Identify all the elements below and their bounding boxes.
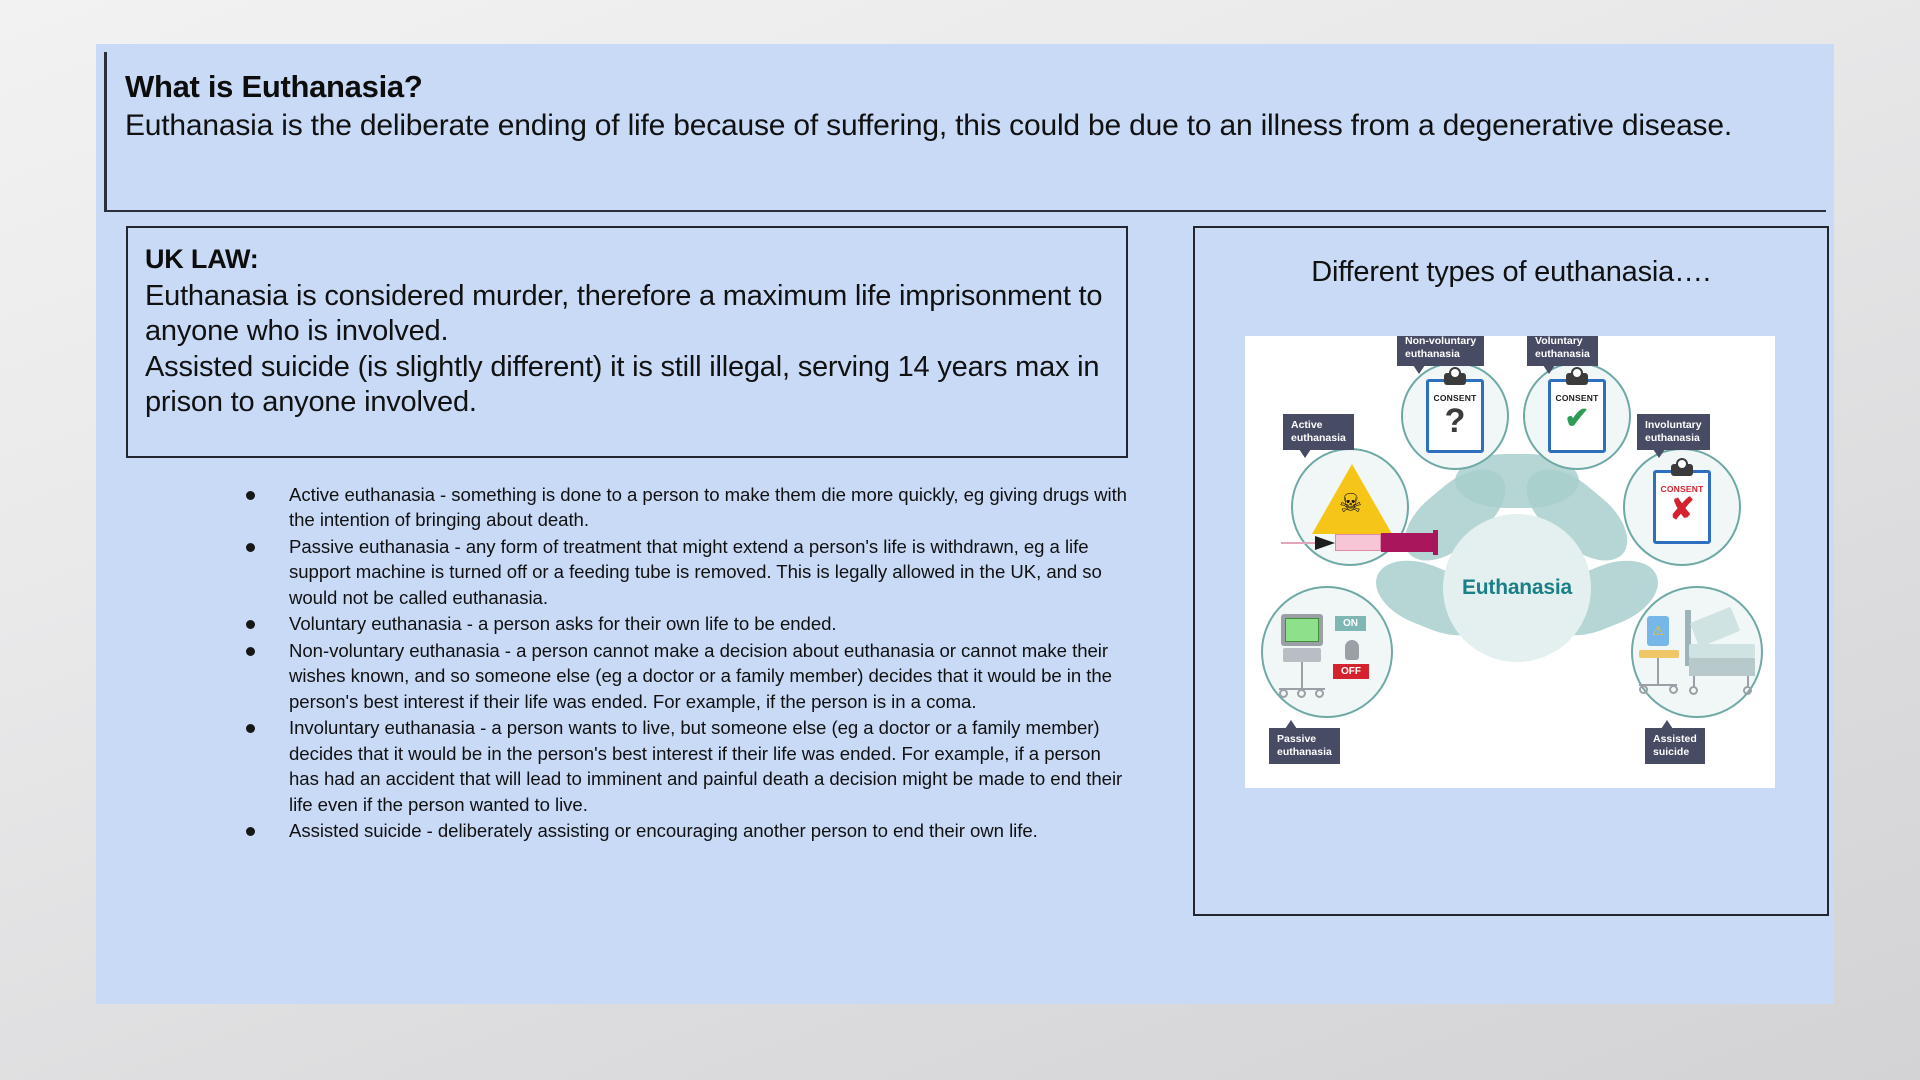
node-voluntary: CONSENT ✔ <box>1523 362 1631 470</box>
caster-wheel-icon <box>1279 689 1288 698</box>
caster-wheel-icon <box>1689 686 1698 695</box>
syringe-plunger <box>1433 530 1438 555</box>
list-item-text: Voluntary euthanasia - a person asks for… <box>289 611 1129 636</box>
list-item: Voluntary euthanasia - a person asks for… <box>156 611 1136 636</box>
tag-passive: Passive euthanasia <box>1269 728 1340 764</box>
list-item: Involuntary euthanasia - a person wants … <box>156 715 1136 817</box>
list-item-text: Passive euthanasia - any form of treatme… <box>289 534 1129 610</box>
iv-bag-icon: ⚠ <box>1647 616 1669 646</box>
node-involuntary: CONSENT ✘ <box>1623 448 1741 566</box>
bullet-dot-icon <box>246 491 255 500</box>
syringe-icon <box>1281 530 1438 555</box>
euthanasia-types-diagram: CONSENT ? Non-voluntary euthanasia CONSE… <box>1245 336 1775 788</box>
switch-off-badge: OFF <box>1333 664 1369 679</box>
caster-wheel-icon <box>1315 689 1324 698</box>
list-item: Non-voluntary euthanasia - a person cann… <box>156 638 1136 714</box>
switch-on-badge: ON <box>1335 616 1366 631</box>
check-mark-glyph: ✔ <box>1564 404 1589 434</box>
page-title: What is Euthanasia? <box>125 70 1806 105</box>
list-item-text: Active euthanasia - something is done to… <box>289 482 1129 533</box>
node-assisted-suicide: ⚠ <box>1631 586 1763 718</box>
switch-knob-icon <box>1345 640 1359 660</box>
list-item: Active euthanasia - something is done to… <box>156 482 1136 533</box>
clipboard-cross-icon: CONSENT ✘ <box>1653 470 1711 544</box>
clipboard-clip-icon <box>1444 373 1466 385</box>
clipboard-clip-icon <box>1671 464 1693 476</box>
bullet-dot-icon <box>246 827 255 836</box>
syringe-needle <box>1281 542 1315 544</box>
question-mark-glyph: ? <box>1445 404 1466 438</box>
skull-crossbones-glyph: ☠ <box>1339 490 1362 516</box>
heading-description: Euthanasia is the deliberate ending of l… <box>125 108 1806 143</box>
hazard-skull-icon: ☠ <box>1312 464 1392 534</box>
list-item-text: Involuntary euthanasia - a person wants … <box>289 715 1129 817</box>
bullet-dot-icon <box>246 543 255 552</box>
bed-frame <box>1689 658 1755 676</box>
list-item: Assisted suicide - deliberately assistin… <box>156 818 1136 843</box>
node-passive: ON OFF <box>1261 586 1393 718</box>
syringe-tip <box>1315 536 1335 550</box>
tag-involuntary: Involuntary euthanasia <box>1637 414 1710 450</box>
vital-monitor-icon <box>1281 614 1323 646</box>
bullet-dot-icon <box>246 647 255 656</box>
uk-law-box: UK LAW: Euthanasia is considered murder,… <box>126 226 1128 458</box>
diagram-center-label: Euthanasia <box>1462 576 1572 600</box>
uk-law-body: Euthanasia is considered murder, therefo… <box>145 279 1110 421</box>
monitor-stand <box>1301 662 1303 688</box>
tag-voluntary: Voluntary euthanasia <box>1527 336 1598 366</box>
tag-assisted-suicide: Assisted suicide <box>1645 728 1705 764</box>
clipboard-clip-icon <box>1566 373 1588 385</box>
node-active: ☠ <box>1291 448 1409 566</box>
list-item-text: Assisted suicide - deliberately assistin… <box>289 818 1129 843</box>
list-item-text: Non-voluntary euthanasia - a person cann… <box>289 638 1129 714</box>
uk-law-title: UK LAW: <box>145 244 1110 275</box>
clipboard-check-icon: CONSENT ✔ <box>1548 379 1606 453</box>
diagram-center-node: Euthanasia <box>1443 514 1591 662</box>
caster-wheel-icon <box>1297 689 1306 698</box>
bullet-dot-icon <box>246 724 255 733</box>
bed-mattress <box>1689 644 1755 658</box>
right-panel-title: Different types of euthanasia…. <box>1195 256 1827 289</box>
monitor-body <box>1283 648 1321 662</box>
syringe-barrel-light <box>1335 534 1381 551</box>
list-item: Passive euthanasia - any form of treatme… <box>156 534 1136 610</box>
clipboard-question-icon: CONSENT ? <box>1426 379 1484 453</box>
caster-wheel-icon <box>1669 685 1678 694</box>
tag-active: Active euthanasia <box>1283 414 1354 450</box>
bed-backrest <box>1690 607 1741 648</box>
heading-block: What is Euthanasia? Euthanasia is the de… <box>104 52 1826 212</box>
caster-wheel-icon <box>1639 685 1648 694</box>
caster-wheel-icon <box>1743 686 1752 695</box>
cross-mark-glyph: ✘ <box>1669 495 1694 525</box>
monitor-screen <box>1285 618 1319 642</box>
bullet-dot-icon <box>246 620 255 629</box>
euthanasia-types-list: Active euthanasia - something is done to… <box>156 482 1136 845</box>
tag-non-voluntary: Non-voluntary euthanasia <box>1397 336 1484 366</box>
slide-canvas: What is Euthanasia? Euthanasia is the de… <box>96 44 1834 1004</box>
right-panel: Different types of euthanasia…. CONSENT … <box>1193 226 1829 916</box>
hazard-glyph: ⚠ <box>1652 623 1664 639</box>
bedside-tray-icon <box>1639 650 1679 658</box>
syringe-barrel-dark <box>1381 533 1433 552</box>
tray-stand <box>1657 658 1659 684</box>
left-column: UK LAW: Euthanasia is considered murder,… <box>118 220 1138 996</box>
node-non-voluntary: CONSENT ? <box>1401 362 1509 470</box>
